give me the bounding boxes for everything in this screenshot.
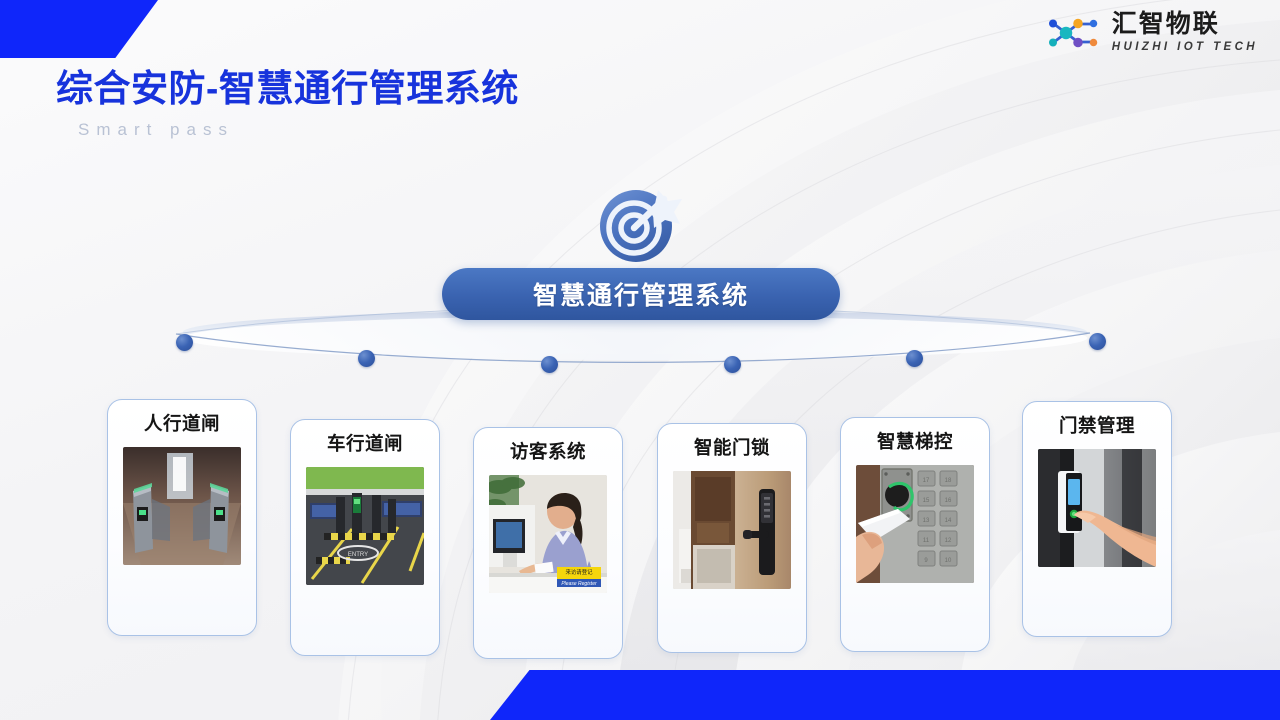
card-title: 访客系统 — [510, 441, 586, 463]
svg-text:18: 18 — [945, 478, 952, 484]
brand-logo: 汇智物联 HUIZHI IOT TECH — [1046, 12, 1258, 54]
svg-text:10: 10 — [945, 558, 952, 564]
svg-text:ENTRY: ENTRY — [348, 552, 368, 558]
svg-text:12: 12 — [945, 538, 952, 544]
hero-banner[interactable]: 智慧通行管理系统 — [442, 268, 840, 320]
slide-canvas: 综合安防-智慧通行管理系统 Smart pass — [0, 0, 1280, 720]
feature-card-smart-lock[interactable]: 智能门锁 — [657, 423, 807, 653]
card-title: 智慧梯控 — [877, 431, 953, 453]
svg-text:16: 16 — [945, 498, 952, 504]
feature-card-vehicle-gate[interactable]: 车行道闸 — [290, 419, 440, 656]
vehicle-barrier-gate-photo: ENTRY — [306, 467, 424, 585]
card-title: 智能门锁 — [694, 437, 770, 459]
molecule-network-icon — [1046, 13, 1102, 53]
svg-text:15: 15 — [923, 498, 930, 504]
logo-name-cn: 汇智物联 — [1112, 12, 1258, 37]
card-title: 车行道闸 — [327, 433, 403, 455]
svg-text:17: 17 — [923, 478, 930, 484]
svg-text:Please Register: Please Register — [561, 581, 597, 587]
feature-card-visitor-system[interactable]: 访客系统 — [473, 427, 623, 659]
smart-door-lock-photo — [673, 471, 791, 589]
logo-name-en: HUIZHI IOT TECH — [1112, 42, 1258, 54]
hero-banner-label: 智慧通行管理系统 — [533, 276, 749, 312]
svg-text:14: 14 — [945, 518, 952, 524]
slide-header: 综合安防-智慧通行管理系统 Smart pass — [56, 68, 519, 140]
feature-card-elevator-control[interactable]: 智慧梯控 1718 1516 13 — [840, 417, 990, 652]
feature-card-pedestrian-gate[interactable]: 人行道闸 — [107, 399, 257, 636]
feature-card-access-control[interactable]: 门禁管理 — [1022, 401, 1172, 637]
pedestrian-speed-gate-photo — [123, 447, 241, 565]
svg-text:13: 13 — [923, 518, 930, 524]
page-title: 综合安防-智慧通行管理系统 — [56, 68, 519, 111]
elevator-card-reader-photo: 1718 1516 1314 1112 910 — [856, 465, 974, 583]
card-title: 人行道闸 — [144, 413, 220, 435]
card-title: 门禁管理 — [1059, 415, 1135, 437]
visitor-reception-photo: 来访请登记 Please Register — [489, 475, 607, 593]
svg-text:来访请登记: 来访请登记 — [566, 568, 594, 576]
page-subtitle: Smart pass — [78, 120, 519, 140]
svg-text:11: 11 — [923, 538, 930, 544]
access-control-panel-photo — [1038, 449, 1156, 567]
